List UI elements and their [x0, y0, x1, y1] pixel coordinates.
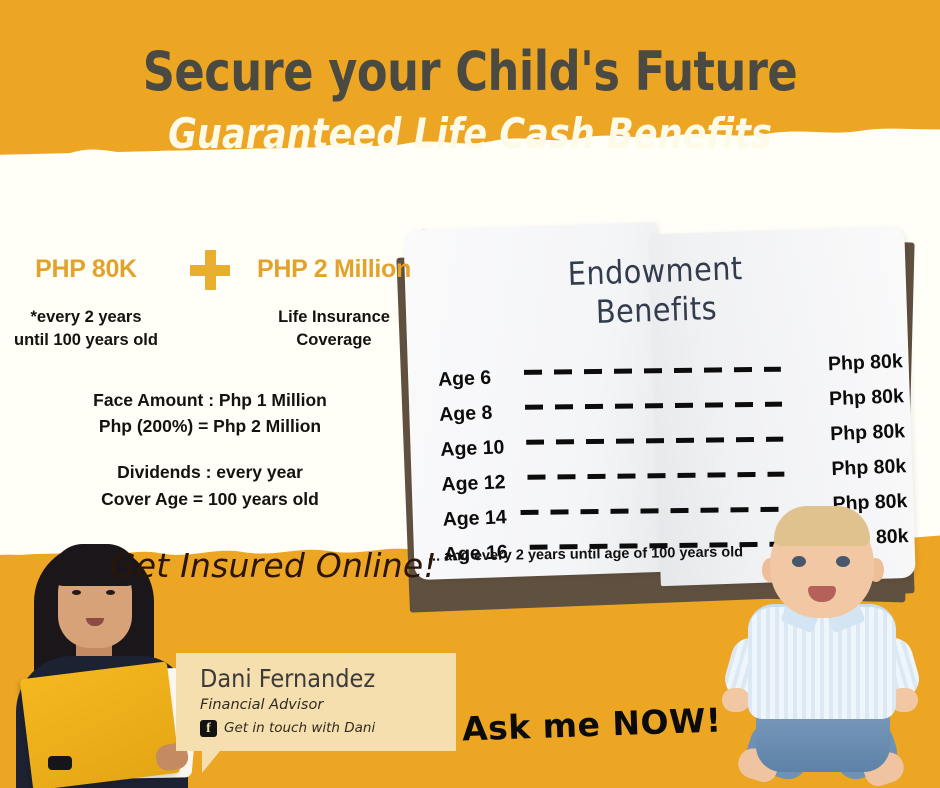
page-subtitle: Guaranteed Life Cash Benefits [33, 103, 907, 158]
poster-canvas: Secure your Child's Future Guaranteed Li… [0, 0, 940, 788]
baby-hand-left [722, 688, 750, 712]
benefit-age: Age 10 [440, 436, 505, 462]
advisor-eye-left [72, 590, 81, 595]
dotted-leader [526, 437, 783, 445]
baby-hair [774, 506, 870, 546]
advisor-contact-link[interactable]: f Get in touch with Dani [200, 720, 440, 737]
coverage-subtext: Life Insurance Coverage [248, 290, 420, 353]
amounts-subtext-row: *every 2 years until 100 years old Life … [0, 290, 420, 353]
benefit-amount: Php 80k [830, 420, 906, 446]
amounts-row: PHP 80K PHP 2 Million [0, 248, 420, 290]
cash-benefit-sub-line1: *every 2 years [0, 306, 172, 329]
cash-benefit-subtext: *every 2 years until 100 years old [0, 290, 172, 353]
benefit-age: Age 8 [439, 402, 493, 427]
fact-face-amount: Face Amount : Php 1 Million [0, 387, 420, 413]
benefit-age: Age 6 [438, 367, 492, 392]
baby-shirt [748, 604, 896, 719]
benefit-age: Age 14 [442, 506, 507, 532]
book-title: Endowment Benefits [404, 244, 907, 339]
benefit-amount: Php 80k [831, 455, 907, 481]
advisor-folder [20, 661, 181, 788]
advisor-contact-text: Get in touch with Dani [224, 720, 375, 736]
fact-dividends: Dividends : every year [0, 459, 420, 485]
get-insured-headline: Get Insured Online! [110, 546, 437, 585]
dotted-leader [525, 402, 782, 410]
plus-icon [190, 250, 230, 290]
coverage-headline: PHP 2 Million [248, 255, 420, 284]
offer-block-cash: PHP 80K [0, 255, 172, 284]
policy-facts: Face Amount : Php 1 Million Php (200%) =… [0, 387, 420, 512]
cash-benefit-sub-line2: until 100 years old [0, 329, 172, 352]
advisor-role: Financial Advisor [200, 697, 440, 713]
coverage-sub-line2: Coverage [248, 329, 420, 352]
facebook-icon[interactable]: f [200, 720, 217, 737]
fact-cover-age: Cover Age = 100 years old [0, 486, 420, 512]
advisor-card[interactable]: Dani Fernandez Financial Advisor f Get i… [176, 653, 456, 751]
benefit-age: Age 12 [441, 471, 506, 497]
offer-summary: PHP 80K PHP 2 Million *every 2 years unt… [0, 248, 420, 512]
advisor-watch [48, 756, 72, 770]
offer-block-coverage: PHP 2 Million [248, 255, 420, 284]
poster-header: Secure your Child's Future Guaranteed Li… [0, 0, 940, 158]
advisor-eye-right [106, 590, 115, 595]
benefit-amount: Php 80k [828, 350, 904, 376]
dotted-leader [524, 367, 781, 375]
baby-eye-right [836, 556, 850, 567]
facebook-glyph: f [200, 720, 217, 737]
baby-photo [722, 506, 922, 788]
cash-benefit-headline: PHP 80K [0, 255, 172, 284]
baby-eye-left [792, 556, 806, 567]
benefit-amount: Php 80k [829, 385, 905, 411]
dotted-leader [527, 472, 784, 480]
fact-php-200: Php (200%) = Php 2 Million [0, 413, 420, 439]
coverage-sub-line1: Life Insurance [248, 306, 420, 329]
page-title: Secure your Child's Future [38, 0, 903, 103]
advisor-name: Dani Fernandez [200, 665, 440, 693]
